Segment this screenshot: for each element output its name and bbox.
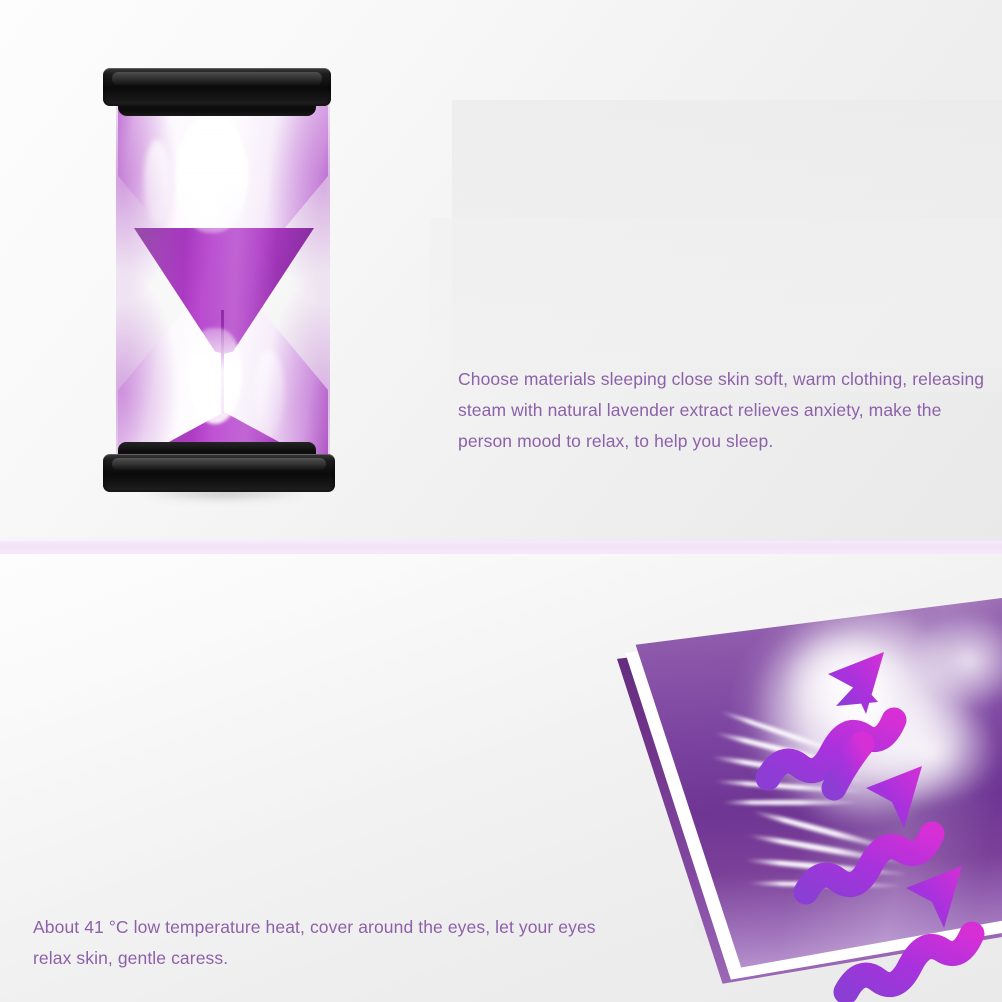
steam-arrow-squiggle [846, 934, 972, 992]
top-section-description: Choose materials sleeping close skin sof… [458, 364, 998, 457]
hourglass-icon [96, 60, 348, 500]
hourglass-upper-highlight-edge [144, 140, 170, 224]
steam-arrow-head [866, 766, 922, 828]
hourglass-lower-highlight-edge [254, 350, 284, 436]
top-section-plate-secondary [430, 218, 1002, 368]
eye-mask-sheet-illustration [588, 596, 1002, 1002]
steam-arrow-squiggle [806, 834, 932, 892]
steam-arrows-group [588, 596, 1002, 1002]
steam-arrow-head [906, 866, 962, 928]
hourglass-upper-highlight [176, 115, 248, 233]
hourglass-lower-highlight [188, 328, 242, 424]
bottom-section-description: About 41 °C low temperature heat, cover … [33, 912, 633, 974]
product-feature-image: Choose materials sleeping close skin sof… [0, 0, 1002, 1002]
hourglass-base-cap-sheen [112, 458, 326, 470]
section-divider [0, 541, 1002, 554]
hourglass-top-cap-sheen [112, 72, 322, 85]
steam-arrow-head [828, 652, 884, 714]
